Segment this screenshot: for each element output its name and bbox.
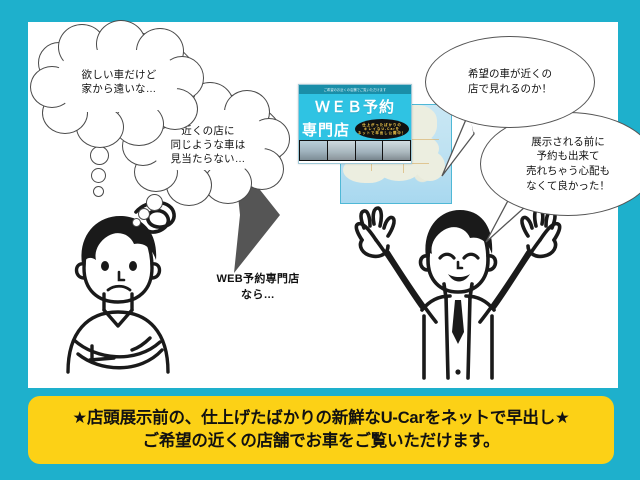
content-panel: 欲しい車だけど 家から遠いな… 近くの店に 同じような車は 見当たらない… [28,22,618,388]
thought2-trail-dot-1 [146,194,163,211]
poster-photo-4 [383,141,410,160]
thought-bubble-2-text: 近くの店に 同じような車は 見当たらない… [171,124,246,167]
thought2-trail-dot-2 [138,208,150,220]
bottom-banner: ★店頭展示前の、仕上げたばかりの新鮮なU-Carをネットで早出し★ ご希望の近く… [28,396,614,464]
thought2-trail-dot-3 [132,218,141,227]
poster-strip: ご希望のお近くの店舗でご覧いただけます [299,85,411,94]
thought-trail-dot-1 [90,146,109,165]
slide-root: 欲しい車だけど 家から遠いな… 近くの店に 同じような車は 見当たらない… [0,0,640,480]
poster-photo-strip [299,140,411,161]
poster-badge: 仕上がったばかりの キレイなU-Carを ネットで早出し公開中！ [355,119,409,139]
poster-photo-3 [356,141,383,160]
web-reservation-poster: ご希望のお近くの店舗でご覧いただけます ＷＥＢ予約 専門店 仕上がったばかりの … [298,84,412,164]
thought-bubble-1-text: 欲しい車だけど 家から遠いな… [82,68,157,96]
poster-photo-2 [328,141,355,160]
thought-trail-dot-2 [91,168,106,183]
worried-man-illustration [40,190,200,380]
thought-bubble-1: 欲しい車だけど 家から遠いな… [40,30,198,138]
poster-subtitle-row: 専門店 仕上がったばかりの キレイなU-Carを ネットで早出し公開中！ [299,118,411,140]
poster-title: ＷＥＢ予約 [299,94,411,118]
thought-trail-dot-3 [93,186,104,197]
poster-subtitle: 専門店 [302,119,350,140]
speech-bubble-2-text: 展示される前に 予約も出来て 売れちゃう心配も なくて良かった！ [526,135,610,194]
speech-bubble-1: 希望の車が近くの 店で見れるのか！ [425,36,595,128]
bottom-banner-text: ★店頭展示前の、仕上げたばかりの新鮮なU-Carをネットで早出し★ ご希望の近く… [72,407,569,454]
poster-strip-text: ご希望のお近くの店舗でご覧いただけます [324,87,386,92]
poster-photo-1 [300,141,327,160]
speech-bubble-1-text: 希望の車が近くの 店で見れるのか！ [468,67,552,96]
arrow-caption: WEB予約専門店 なら… [188,272,328,304]
happy-man-illustration [318,200,598,382]
